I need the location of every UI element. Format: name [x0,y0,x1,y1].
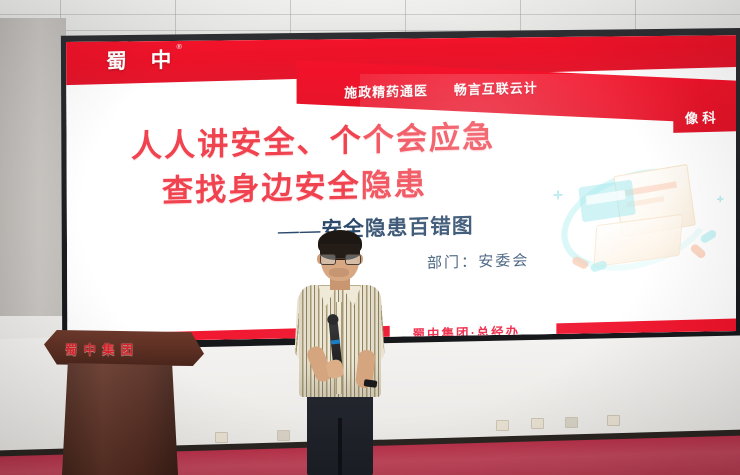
tagline-right: 畅言互联云计 [454,81,538,98]
face-shadow [329,268,349,277]
corner-badge-label: 像科 [685,107,720,128]
medicine-illustration-icon: ✛ ✛ [553,159,729,283]
slide-headline-line1: 人人讲安全、个个会应急 [131,111,495,166]
tagline-left: 施政精药通医 [344,84,428,101]
wall-outlet [565,417,578,428]
podium-label: 蜀中集团 [65,339,139,358]
corner-brand-badge: 像科 [673,83,736,133]
wall-outlet [531,418,544,429]
slide-headline-line2: 查找身边安全隐患 [162,158,427,211]
registered-trademark-icon: ® [177,44,182,51]
leg-separation [338,418,342,475]
company-logo: 蜀 中 [106,43,181,75]
screen-surface: 蜀 中 ® 施政精药通医 畅言互联云计 像科 [60,34,736,344]
led-display-screen[interactable]: 蜀 中 ® 施政精药通医 畅言互联云计 像科 [54,28,740,350]
podium-body [62,363,178,475]
glasses-icon [320,254,361,265]
wall-outlet [607,415,620,426]
wall-outlet [215,432,228,443]
slide-department: 部门：安委会 [427,249,529,274]
speaker-person [285,228,395,475]
presentation-slide: 蜀 中 ® 施政精药通医 畅言互联云计 像科 [60,34,736,344]
hair [318,230,362,256]
wall-outlet [496,420,509,431]
speaker-podium: 蜀中集团 [44,330,204,475]
presentation-scene: 蜀 中 ® 施政精药通医 畅言互联云计 像科 [0,0,740,475]
